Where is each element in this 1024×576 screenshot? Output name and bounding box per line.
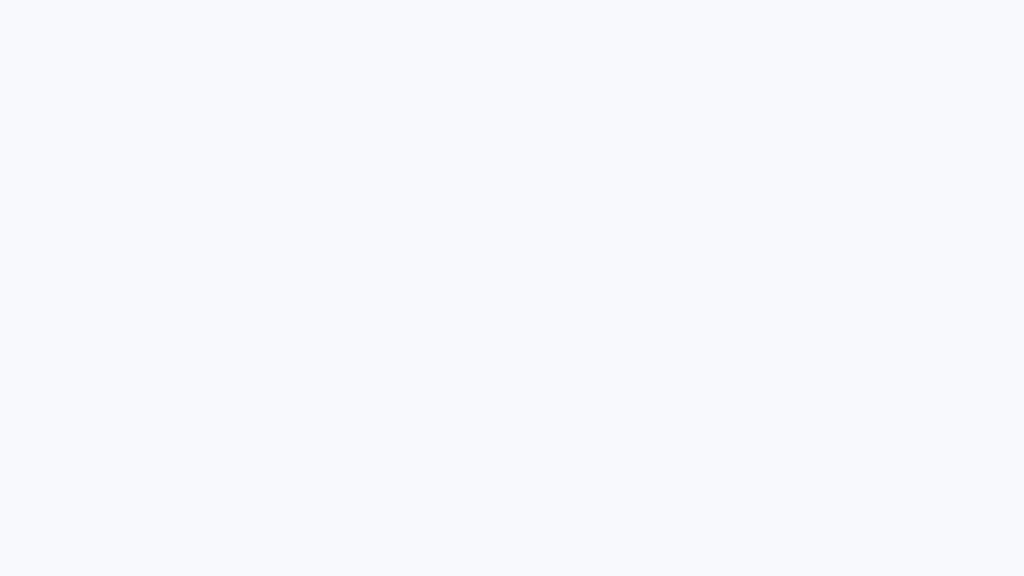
funnel-graphic [0, 0, 1024, 576]
infographic-canvas [0, 0, 1024, 576]
